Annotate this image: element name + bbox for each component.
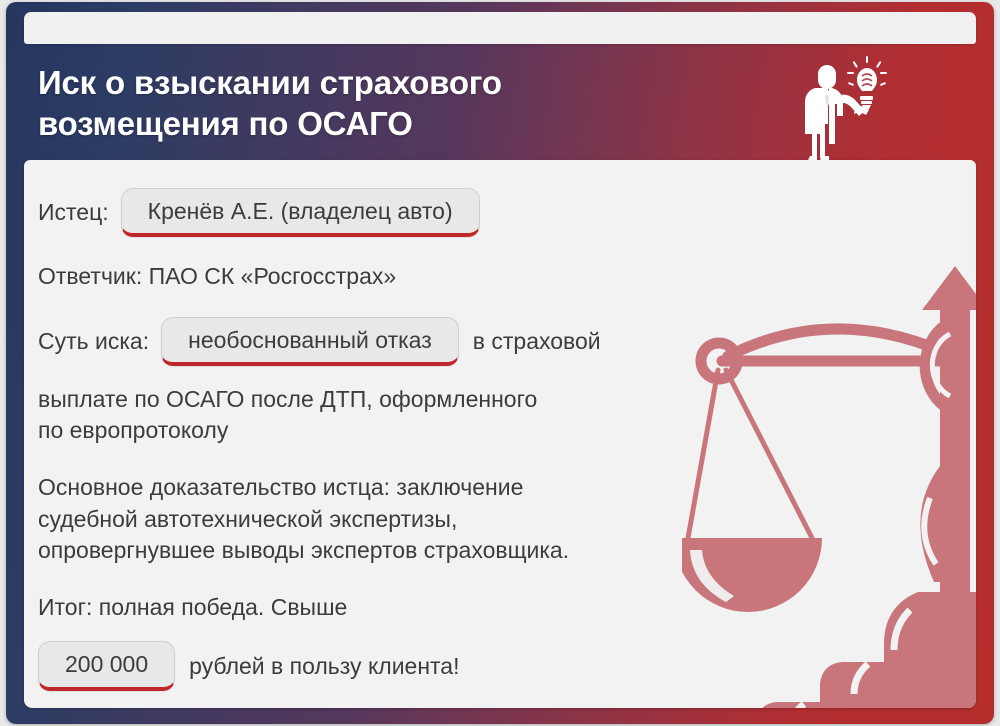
- spacer: [38, 623, 976, 641]
- claim-continuation: выплате по ОСАГО после ДТП, оформленного…: [38, 384, 976, 447]
- top-accent-strip: [24, 12, 976, 44]
- defendant-line: Ответчик: ПАО СК «Росгосстрах»: [38, 261, 976, 292]
- case-content: Истец: Кренёв А.Е. (владелец авто) Ответ…: [24, 160, 976, 691]
- businessman-with-idea-icon: [788, 52, 892, 160]
- plaintiff-row: Истец: Кренёв А.Е. (владелец авто): [38, 188, 976, 237]
- amount-tail-text: рублей в пользу клиента!: [189, 651, 459, 682]
- spacer: [38, 293, 976, 317]
- amount-chip[interactable]: 200 000: [38, 641, 175, 690]
- claim-label: Суть иска:: [38, 326, 149, 357]
- spacer: [38, 566, 976, 592]
- spacer: [38, 237, 976, 261]
- spacer: [38, 446, 976, 472]
- spacer: [38, 366, 976, 384]
- claim-tail-text: в страховой: [473, 326, 601, 357]
- card-header: Иск о взыскании страхового возмещения по…: [24, 48, 976, 160]
- card-frame: Иск о взыскании страхового возмещения по…: [6, 2, 994, 724]
- plaintiff-chip[interactable]: Кренёв А.Е. (владелец авто): [121, 188, 480, 237]
- result-line: Итог: полная победа. Свыше: [38, 592, 976, 623]
- evidence-paragraph: Основное доказательство истца: заключени…: [38, 472, 976, 566]
- amount-row: 200 000 рублей в пользу клиента!: [38, 641, 976, 690]
- claim-chip[interactable]: необоснованный отказ: [161, 317, 459, 366]
- plaintiff-label: Истец:: [38, 197, 109, 228]
- claim-row: Суть иска: необоснованный отказ в страхо…: [38, 317, 976, 366]
- case-details-panel: Истец: Кренёв А.Е. (владелец авто) Ответ…: [24, 160, 976, 708]
- infographic-canvas: Иск о взыскании страхового возмещения по…: [0, 0, 1000, 726]
- page-title: Иск о взыскании страхового возмещения по…: [38, 62, 718, 145]
